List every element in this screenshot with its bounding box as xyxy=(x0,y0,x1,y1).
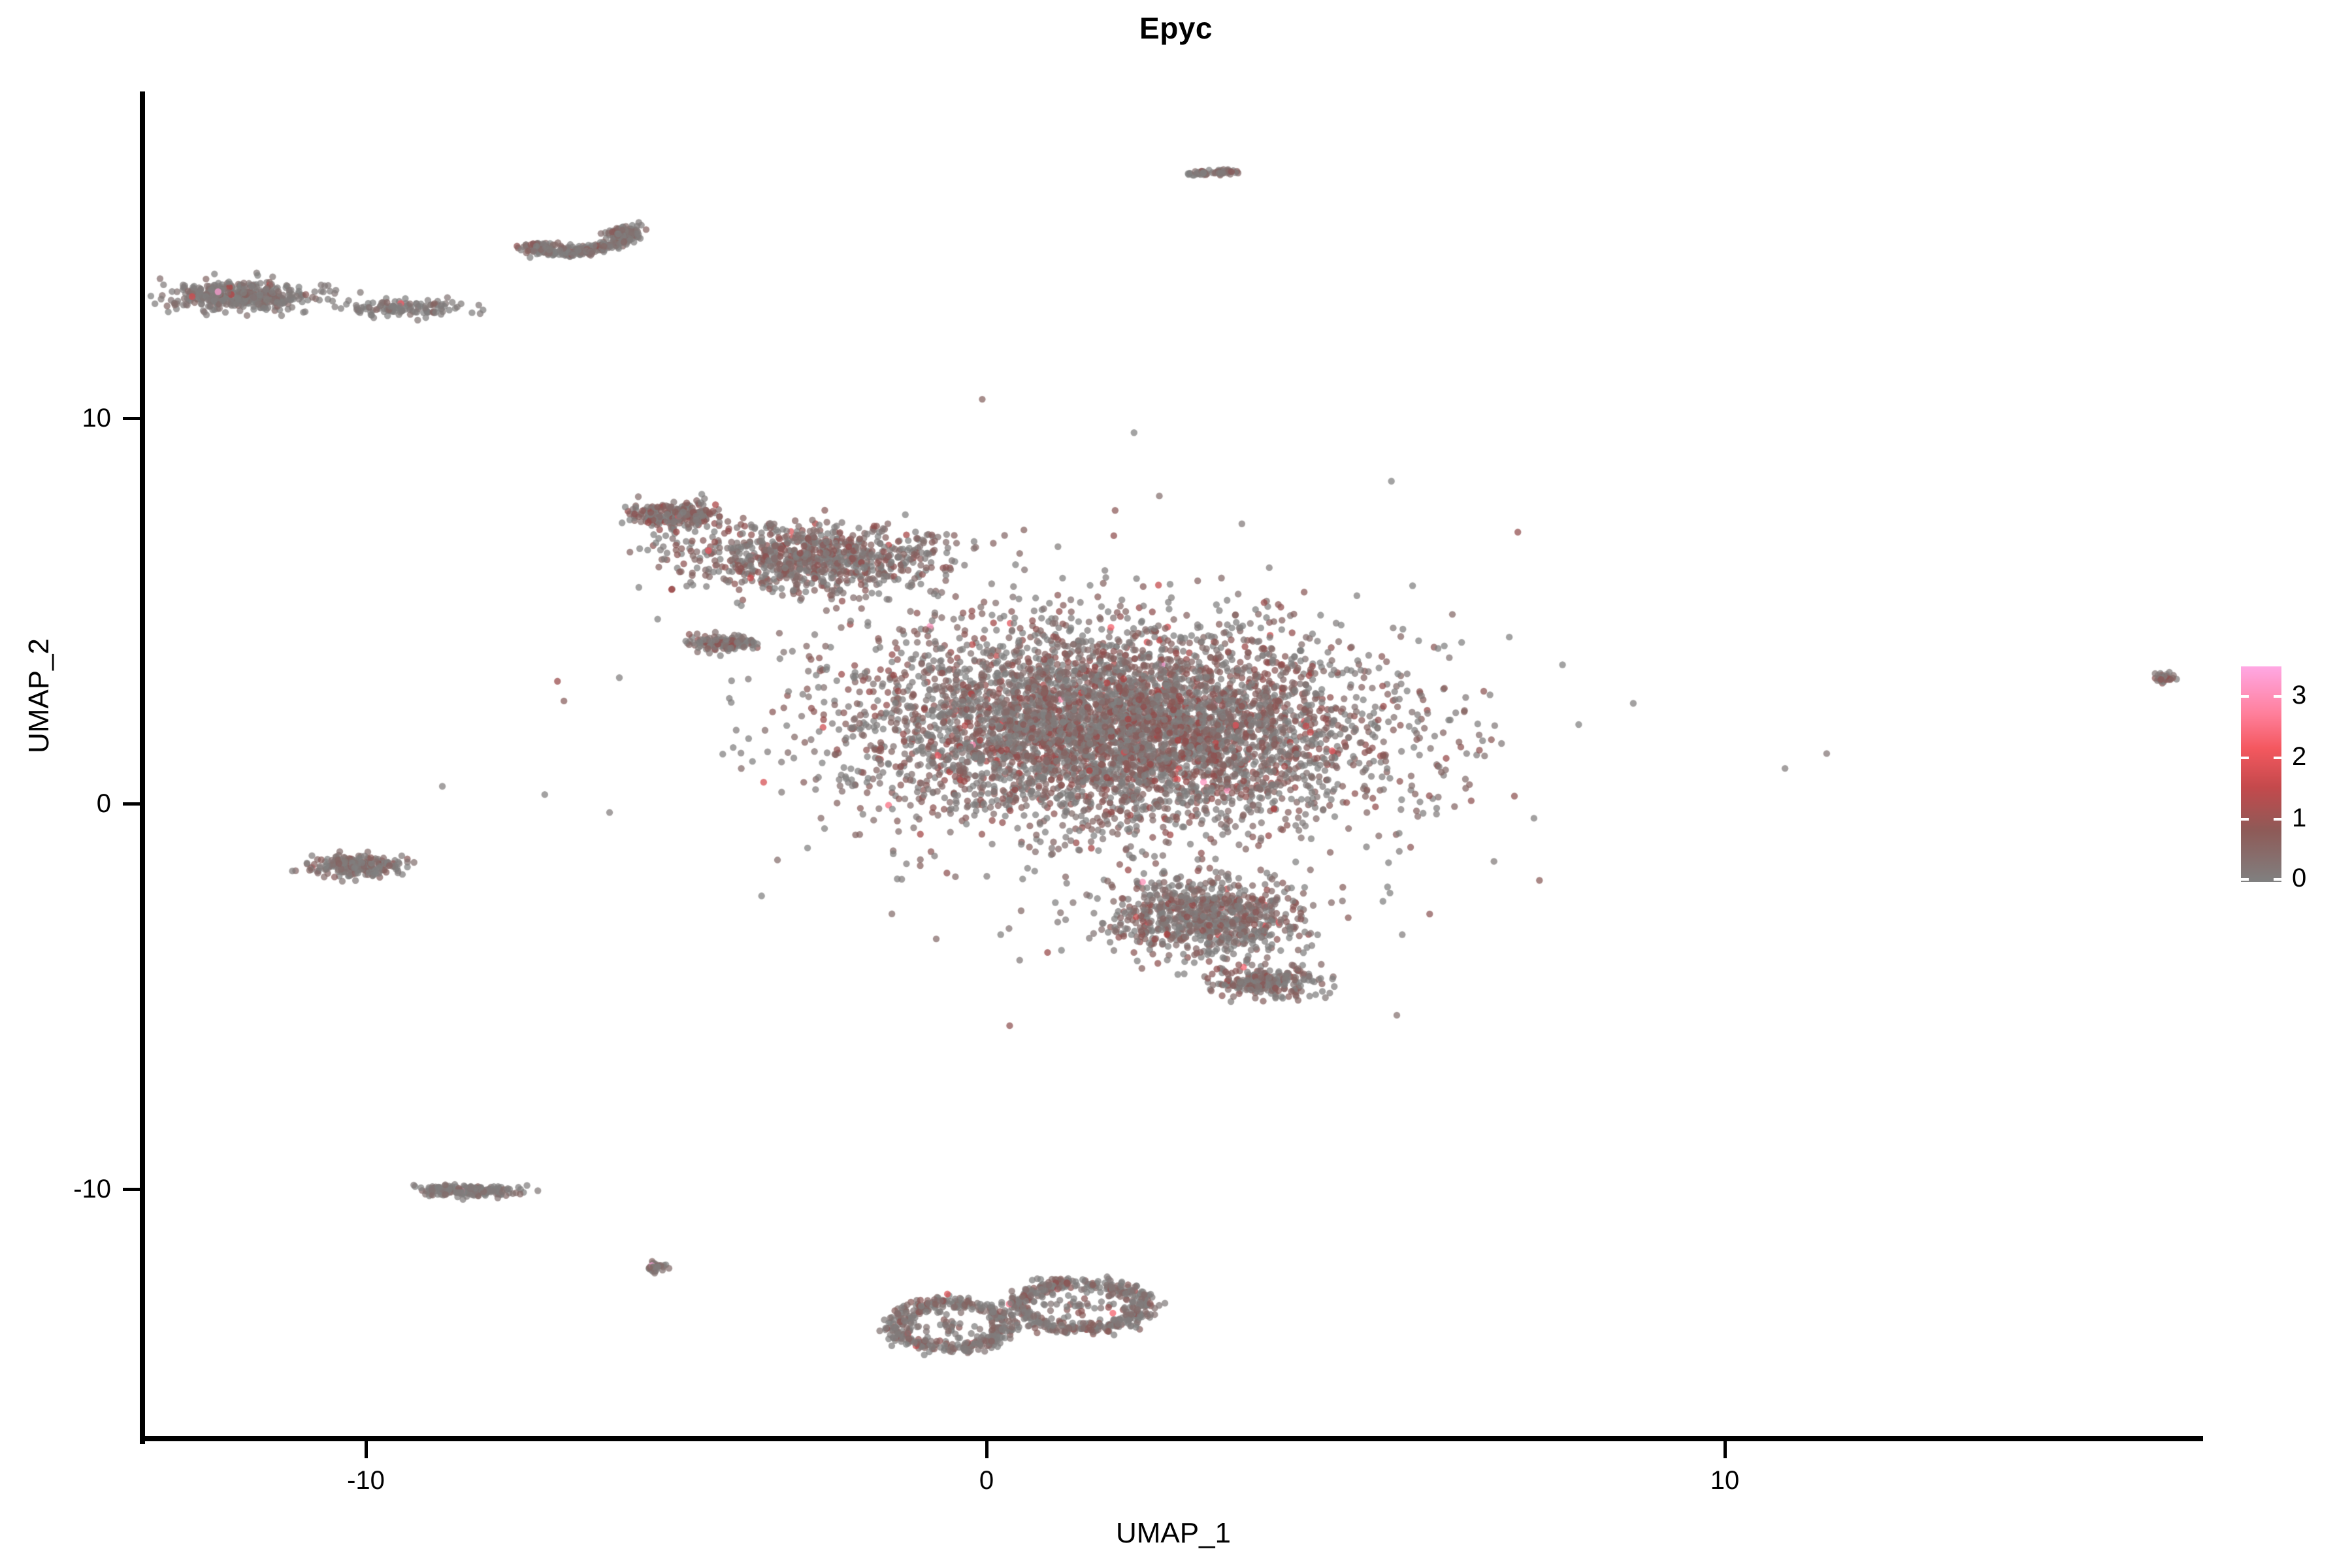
y-tick-label: -10 xyxy=(0,1175,111,1204)
x-axis-line xyxy=(140,1436,2203,1441)
x-tick-mark xyxy=(1723,1441,1727,1458)
scatter-plot-canvas xyxy=(144,91,2203,1441)
colorbar-tick xyxy=(2274,695,2281,698)
colorbar-tick xyxy=(2274,878,2281,881)
colorbar-tick xyxy=(2241,878,2249,881)
page-title: Epyc xyxy=(0,10,2352,46)
y-tick-mark xyxy=(123,417,140,420)
colorbar-tick xyxy=(2274,757,2281,759)
colorbar-label: 1 xyxy=(2292,805,2306,831)
x-tick-label: 0 xyxy=(902,1466,1071,1495)
x-tick-mark xyxy=(985,1441,988,1458)
x-axis-title: UMAP_1 xyxy=(144,1517,2203,1550)
colorbar-label: 3 xyxy=(2292,682,2306,708)
colorbar-tick xyxy=(2241,757,2249,759)
y-tick-label: 10 xyxy=(0,404,111,433)
colorbar-label: 2 xyxy=(2292,743,2306,770)
x-tick-label: -10 xyxy=(281,1466,451,1495)
y-axis-title: UMAP_2 xyxy=(23,493,56,898)
feature-plot-figure: Epyc -10 0 10 10 0 -10 UMAP_1 UMAP_2 3 2… xyxy=(0,0,2352,1568)
colorbar-label: 0 xyxy=(2292,865,2306,891)
y-tick-mark xyxy=(123,802,140,806)
y-tick-mark xyxy=(123,1188,140,1191)
colorbar-gradient xyxy=(2241,666,2281,882)
colorbar-tick xyxy=(2241,818,2249,821)
x-tick-mark xyxy=(365,1441,368,1458)
x-tick-label: 10 xyxy=(1640,1466,1810,1495)
colorbar-tick xyxy=(2274,818,2281,821)
y-axis-line xyxy=(140,91,145,1444)
y-tick-label: 0 xyxy=(0,789,111,819)
plot-panel xyxy=(144,91,2203,1441)
legend-colorbar: 3 2 1 0 xyxy=(2241,666,2339,882)
colorbar-tick xyxy=(2241,695,2249,698)
